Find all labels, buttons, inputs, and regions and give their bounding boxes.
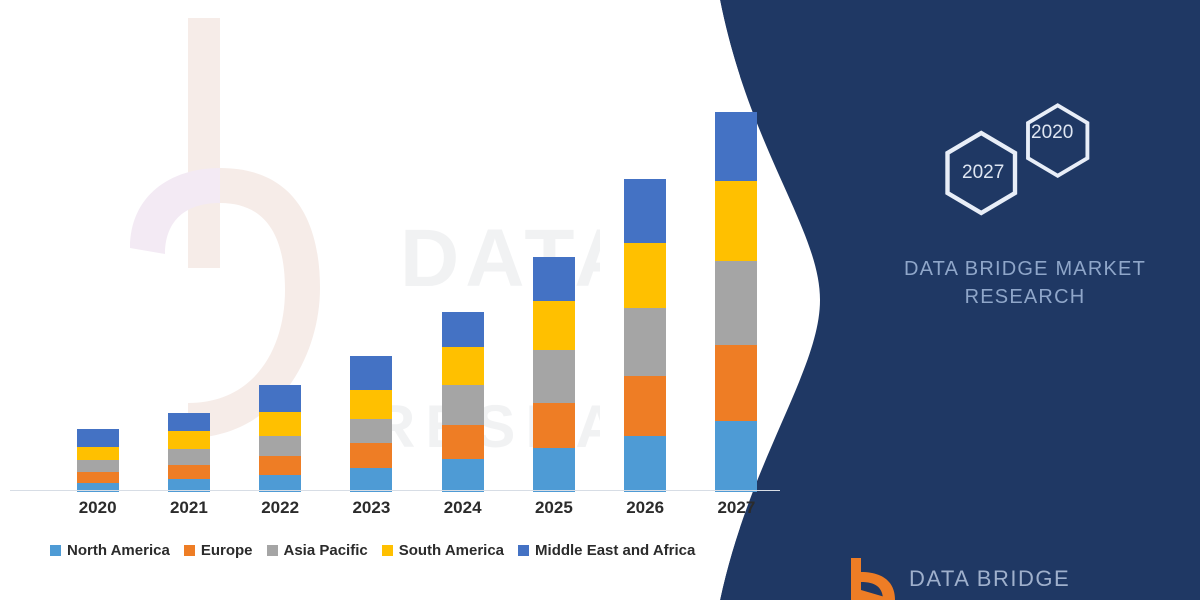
bar-group	[259, 385, 301, 492]
bar-segment	[350, 419, 392, 443]
chart-plot-area	[52, 110, 782, 492]
x-axis-label: 2026	[605, 498, 685, 518]
bar-segment	[259, 385, 301, 412]
bar-segment	[442, 347, 484, 385]
bar-group	[350, 356, 392, 492]
legend-swatch-icon	[184, 545, 195, 556]
bar-segment	[715, 421, 757, 492]
legend-swatch-icon	[50, 545, 61, 556]
x-axis-label: 2023	[331, 498, 411, 518]
x-axis-label: 2025	[514, 498, 594, 518]
bar-group	[442, 312, 484, 492]
legend-item[interactable]: North America	[50, 542, 170, 559]
footer-logo: DATA BRIDGE	[845, 556, 1070, 600]
legend-label: Middle East and Africa	[535, 542, 695, 559]
bar-segment	[77, 429, 119, 447]
bar-segment	[442, 312, 484, 347]
x-axis-labels: 20202021202220232024202520262027	[52, 498, 782, 524]
bar-segment	[168, 431, 210, 449]
bar-segment	[350, 356, 392, 391]
bar-group	[77, 429, 119, 492]
bar-segment	[77, 460, 119, 472]
x-axis-label: 2027	[696, 498, 776, 518]
bar-segment	[350, 443, 392, 468]
bar-segment	[259, 412, 301, 436]
x-axis-label: 2020	[58, 498, 138, 518]
x-axis-label: 2024	[423, 498, 503, 518]
bar-segment	[533, 301, 575, 350]
bar-segment	[350, 390, 392, 419]
legend-item[interactable]: Europe	[184, 542, 253, 559]
bar-segment	[715, 112, 757, 181]
bar-segment	[624, 179, 666, 243]
legend-swatch-icon	[267, 545, 278, 556]
brand-name-line2: RESEARCH	[965, 286, 1086, 308]
stacked-bar-chart: 20202021202220232024202520262027	[0, 0, 830, 600]
legend-label: North America	[67, 542, 170, 559]
hexagon-badges: 2027 2020	[925, 100, 1125, 240]
bar-segment	[77, 472, 119, 483]
bar-segment	[715, 261, 757, 345]
bar-segment	[168, 465, 210, 480]
bar-segment	[624, 243, 666, 308]
bar-segment	[350, 468, 392, 492]
legend-label: Europe	[201, 542, 253, 559]
bar-segment	[259, 436, 301, 456]
bar-segment	[533, 257, 575, 301]
brand-name-line1: DATA BRIDGE MARKET	[904, 258, 1146, 280]
hexagon-label-start-year: 2027	[962, 162, 1004, 184]
infographic-canvas: DATA BR RESEARCH 20202021202220232024202…	[0, 0, 1200, 600]
bar-segment	[624, 436, 666, 492]
bar-segment	[624, 376, 666, 436]
bar-segment	[442, 459, 484, 492]
legend-label: South America	[399, 542, 504, 559]
chart-baseline	[10, 490, 780, 491]
bar-group	[624, 179, 666, 492]
bar-segment	[715, 345, 757, 421]
x-axis-label: 2021	[149, 498, 229, 518]
hexagon-shapes-icon	[925, 100, 1125, 240]
bar-segment	[715, 181, 757, 261]
legend-swatch-icon	[518, 545, 529, 556]
bar-segment	[77, 447, 119, 460]
legend-swatch-icon	[382, 545, 393, 556]
bar-segment	[259, 456, 301, 475]
bar-group	[715, 112, 757, 492]
legend-item[interactable]: Asia Pacific	[267, 542, 368, 559]
data-bridge-mark-icon	[845, 556, 897, 600]
footer-logo-text: DATA BRIDGE	[909, 566, 1070, 592]
legend-item[interactable]: Middle East and Africa	[518, 542, 695, 559]
bar-segment	[624, 308, 666, 375]
chart-legend: North AmericaEuropeAsia PacificSouth Ame…	[50, 542, 695, 559]
bar-segment	[442, 425, 484, 460]
bar-segment	[533, 448, 575, 492]
bar-group	[168, 413, 210, 492]
legend-label: Asia Pacific	[284, 542, 368, 559]
bar-group	[533, 257, 575, 492]
bar-segment	[442, 385, 484, 425]
bar-segment	[168, 449, 210, 464]
hexagon-label-end-year: 2020	[1031, 122, 1073, 144]
legend-item[interactable]: South America	[382, 542, 504, 559]
brand-name-text: DATA BRIDGE MARKET RESEARCH	[860, 255, 1190, 311]
bar-segment	[533, 403, 575, 448]
x-axis-label: 2022	[240, 498, 320, 518]
bar-segment	[168, 413, 210, 431]
bar-segment	[533, 350, 575, 403]
